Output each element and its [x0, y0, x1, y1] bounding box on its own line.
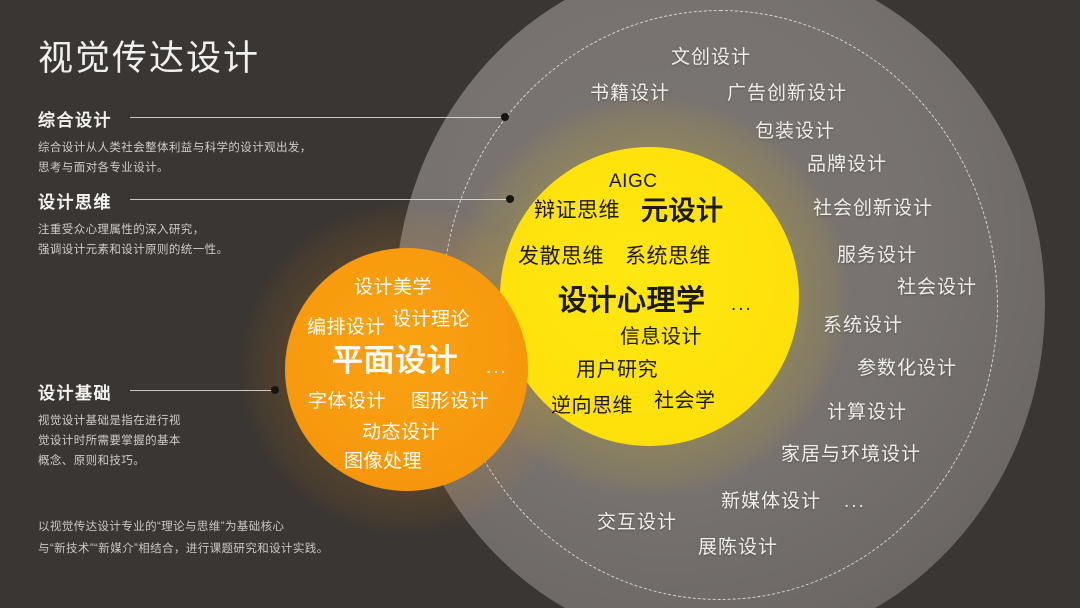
ring-word-shehui: 社会设计 [897, 278, 977, 297]
orange-ellipsis: ... [486, 358, 508, 377]
yellow-word-xinxi: 信息设计 [620, 327, 702, 347]
ring-word-baozhuang: 包装设计 [755, 122, 835, 141]
ring-word-jisuan: 计算设计 [827, 403, 907, 422]
ring-word-canshuhua: 参数化设计 [857, 359, 957, 378]
footnote: 以视觉传达设计专业的“理论与思维”为基础核心 与“新技术”“新媒介”相结合，进行… [38, 516, 329, 560]
orange-word-ziti: 字体设计 [308, 392, 386, 411]
yellow-word-yuansheji: 元设计 [641, 198, 724, 225]
section-body-shejijichu: 视觉设计基础是指在进行视 觉设计时所需要掌握的基本 概念、原则和技巧。 [38, 411, 181, 471]
ring-word-xitong: 系统设计 [823, 316, 903, 335]
section-heading-shejijichu: 设计基础 [38, 379, 181, 404]
orange-word-tuxiang: 图像处理 [344, 452, 422, 471]
section-line: 注重受众心理属性的深入研究， [38, 220, 228, 240]
ring-word-shuji: 书籍设计 [590, 84, 670, 103]
section-line: 强调设计元素和设计原则的统一性。 [38, 240, 228, 260]
connector-line-shejijichu [130, 390, 275, 391]
ring-word-xinmeiti: 新媒体设计 [721, 492, 821, 511]
ring-word-jiaohu: 交互设计 [597, 513, 677, 532]
yellow-word-xinlixue: 设计心理学 [558, 287, 706, 316]
section-line: 概念、原则和技巧。 [38, 451, 181, 471]
yellow-word-xitongsiwei: 系统思维 [625, 246, 711, 267]
infographic-canvas: 文创设计 书籍设计 广告创新设计 包装设计 品牌设计 社会创新设计 服务设计 社… [0, 0, 1080, 608]
yellow-word-yonghu: 用户研究 [576, 360, 658, 380]
ring-word-zhanchen: 展陈设计 [698, 538, 778, 557]
ring-ellipsis: ... [844, 492, 866, 511]
orange-word-tuxing: 图形设计 [411, 392, 489, 411]
section-body-zonghesheji: 综合设计从人类社会整体利益与科学的设计观出发， 思考与面对各专业设计。 [38, 138, 312, 178]
section-heading-shejisiwei: 设计思维 [38, 188, 228, 213]
footnote-line: 以视觉传达设计专业的“理论与思维”为基础核心 [38, 516, 329, 538]
section-line: 视觉设计基础是指在进行视 [38, 411, 181, 431]
ring-word-shehuichuangxin: 社会创新设计 [813, 199, 933, 218]
ring-word-wenchuang: 文创设计 [671, 48, 751, 67]
ring-word-guanggao: 广告创新设计 [727, 84, 847, 103]
yellow-ellipsis: ... [731, 295, 753, 314]
orange-word-lilun: 设计理论 [392, 310, 470, 329]
footnote-line: 与“新技术”“新媒介”相结合，进行课题研究和设计实践。 [38, 538, 329, 560]
yellow-word-aigc: AIGC [609, 172, 657, 191]
section-line: 综合设计从人类社会整体利益与科学的设计观出发， [38, 138, 312, 158]
connector-line-shejisiwei [130, 199, 510, 200]
yellow-word-shehuixue: 社会学 [654, 391, 716, 411]
orange-word-bianpai: 编排设计 [307, 318, 385, 337]
section-shejijichu: 设计基础 视觉设计基础是指在进行视 觉设计时所需要掌握的基本 概念、原则和技巧。 [38, 379, 181, 471]
connector-dot-shejijichu [271, 386, 279, 394]
yellow-word-bianzheng: 辩证思维 [534, 200, 620, 221]
section-heading-zonghesheji: 综合设计 [38, 106, 312, 131]
section-body-shejisiwei: 注重受众心理属性的深入研究， 强调设计元素和设计原则的统一性。 [38, 220, 228, 260]
orange-word-dongtai: 动态设计 [362, 423, 440, 442]
connector-line-zonghesheji [130, 117, 505, 118]
orange-word-meixue: 设计美学 [354, 278, 432, 297]
connector-dot-zonghesheji [501, 113, 509, 121]
orange-word-pingmian: 平面设计 [332, 345, 458, 376]
section-line: 思考与面对各专业设计。 [38, 158, 312, 178]
ring-word-fuwu: 服务设计 [837, 246, 917, 265]
page-title: 视觉传达设计 [38, 30, 260, 81]
section-line: 觉设计时所需要掌握的基本 [38, 431, 181, 451]
connector-dot-shejisiwei [506, 195, 514, 203]
ring-word-jiaju: 家居与环境设计 [781, 445, 921, 464]
yellow-word-fasan: 发散思维 [518, 246, 604, 267]
yellow-word-nixiang: 逆向思维 [551, 396, 633, 416]
ring-word-pinpai: 品牌设计 [807, 155, 887, 174]
